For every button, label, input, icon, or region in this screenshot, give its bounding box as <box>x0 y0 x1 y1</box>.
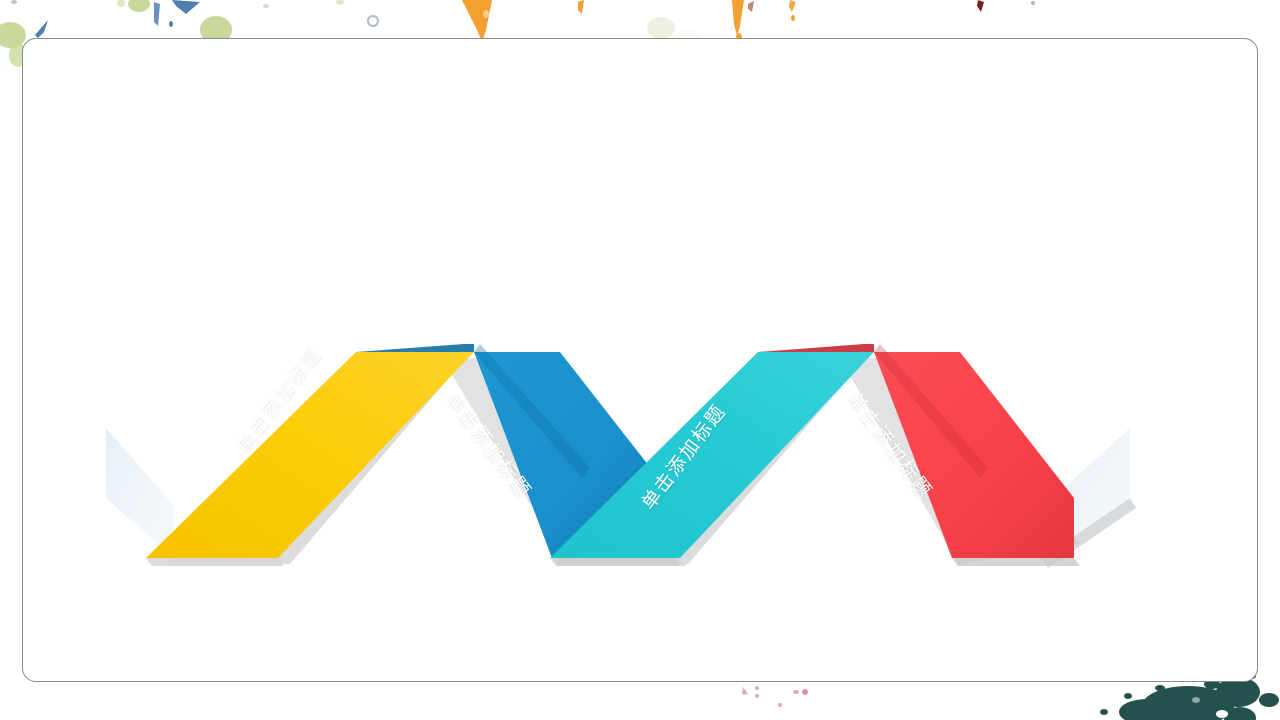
ribbon-svg <box>22 38 1258 682</box>
ribbon-foot-shadow-2 <box>552 558 680 566</box>
slide-canvas: 在此录入上述图表的综合描述说明，在此录入上述图表的综合描述说明。在此录入上述图表… <box>0 0 1280 720</box>
ribbon-foot-shadow-4 <box>952 558 1080 566</box>
ghost-segment-left <box>106 428 174 558</box>
zigzag-ribbon-diagram <box>22 38 1258 682</box>
